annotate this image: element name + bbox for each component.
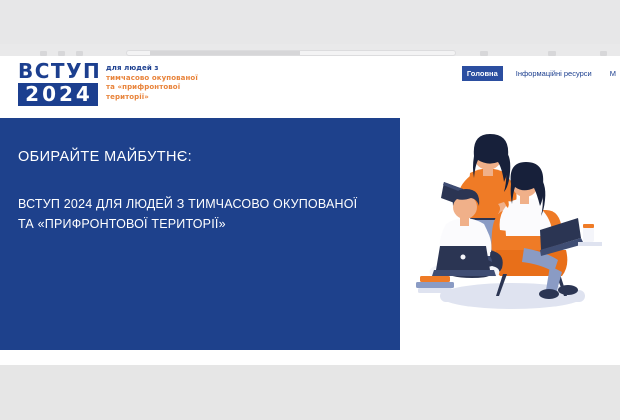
site-header: ВСТУП 2024 для людей з тимчасово окупова… — [0, 56, 620, 118]
nav-item-clipped[interactable]: М — [605, 66, 616, 81]
logo-mark: ВСТУП 2024 — [18, 61, 98, 106]
logo-year: 2024 — [18, 83, 98, 106]
logo-word: ВСТУП — [18, 61, 98, 81]
hero-title: ВСТУП 2024 ДЛЯ ЛЮДЕЙ З ТИМЧАСОВО ОКУПОВА… — [18, 194, 368, 234]
hero-section: ОБИРАЙТЕ МАЙБУТНЄ: ВСТУП 2024 ДЛЯ ЛЮДЕЙ … — [0, 118, 620, 350]
site-logo[interactable]: ВСТУП 2024 для людей з тимчасово окупова… — [18, 61, 198, 106]
hero-blue-panel: ОБИРАЙТЕ МАЙБУТНЄ: ВСТУП 2024 ДЛЯ ЛЮДЕЙ … — [0, 118, 400, 350]
address-bar-url — [150, 51, 300, 55]
browser-chrome — [0, 0, 620, 56]
hero-illustration — [400, 118, 620, 350]
logo-tagline-line-2: тимчасово окупованої — [106, 74, 198, 84]
page-content-below-hero — [0, 350, 620, 365]
desktop-background — [0, 365, 620, 420]
logo-tagline-line-4: території» — [106, 93, 198, 103]
browser-toolbar — [0, 44, 620, 56]
hero-eyebrow: ОБИРАЙТЕ МАЙБУТНЄ: — [18, 148, 192, 166]
main-navigation: Головна Інформаційні ресурси М — [462, 66, 616, 81]
page-viewport: ВСТУП 2024 для людей з тимчасово окупова… — [0, 56, 620, 365]
logo-tagline-line-3: та «прифронтової — [106, 83, 198, 93]
logo-tagline: для людей з тимчасово окупованої та «при… — [106, 61, 198, 102]
screenshot-root: ВСТУП 2024 для людей з тимчасово окупова… — [0, 0, 620, 420]
nav-item-home[interactable]: Головна — [462, 66, 503, 81]
students-studying-illustration — [400, 118, 620, 350]
logo-tagline-line-1: для людей з — [106, 64, 198, 74]
nav-item-information-resources[interactable]: Інформаційні ресурси — [511, 66, 597, 81]
